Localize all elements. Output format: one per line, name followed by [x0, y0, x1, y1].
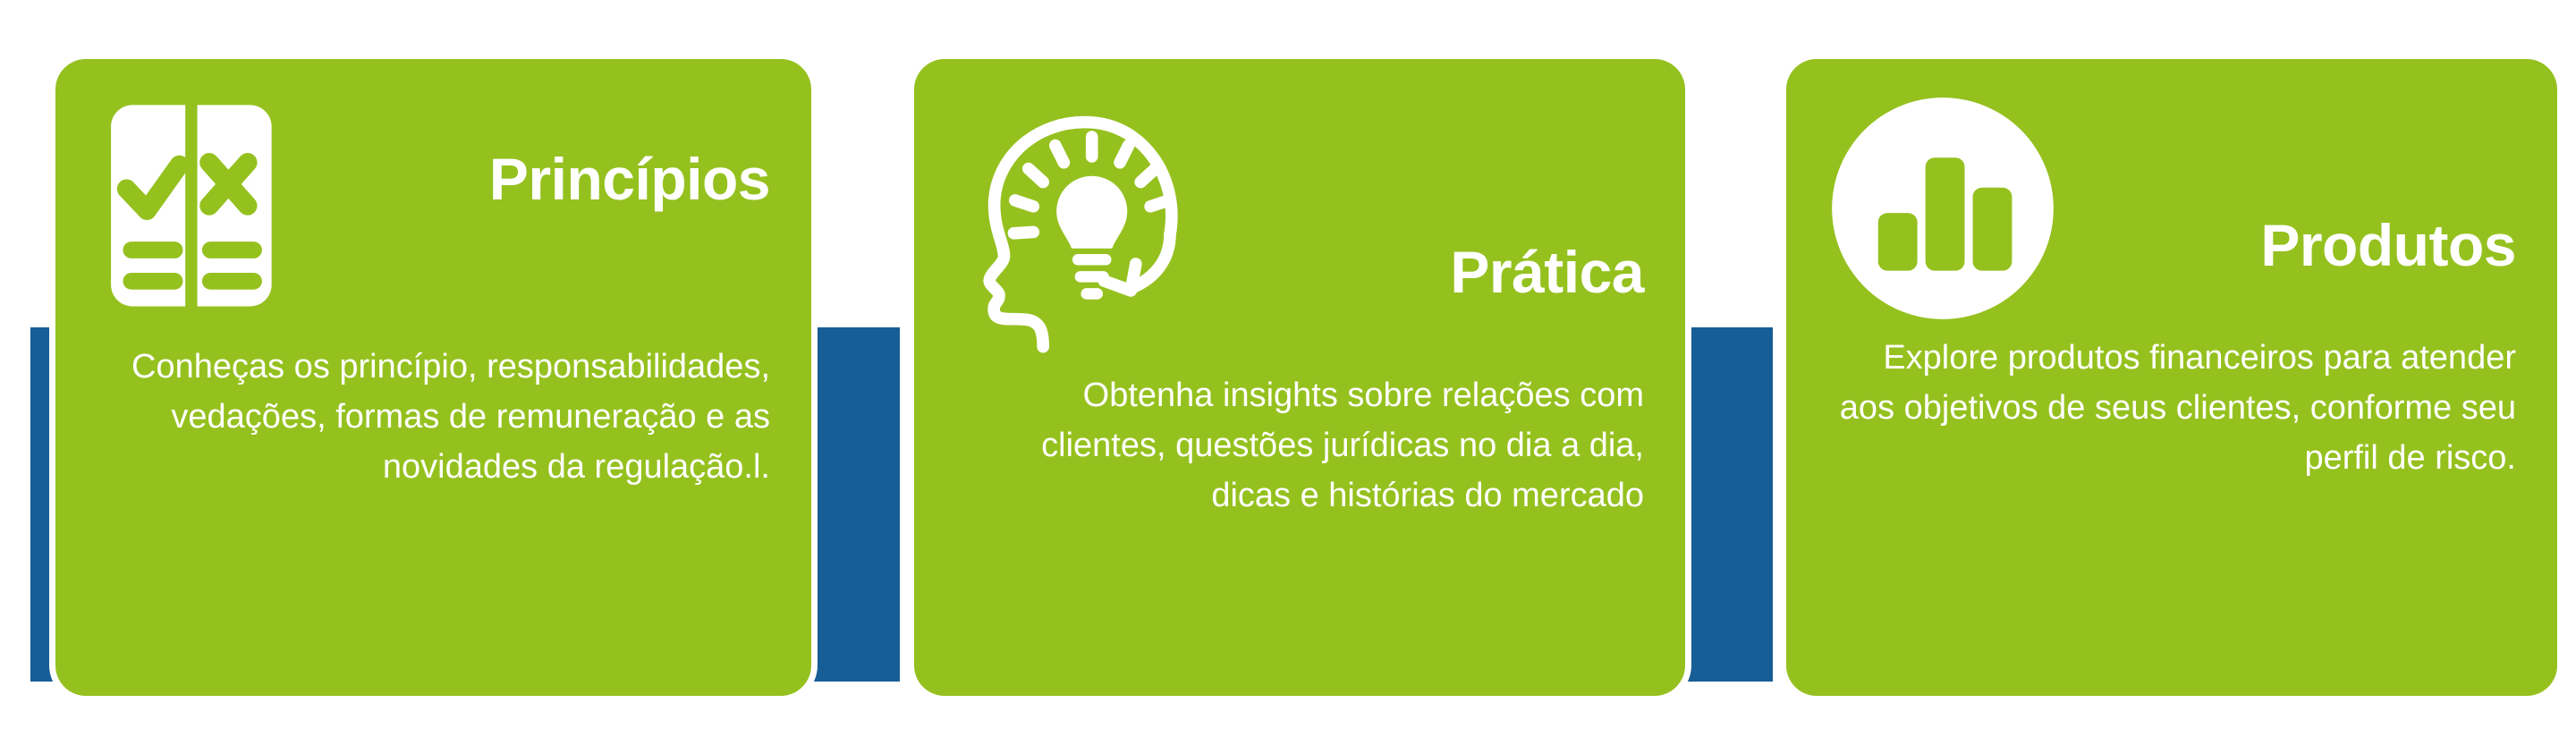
- card-principios-header: Princípios: [97, 93, 770, 337]
- checklist-approve-reject-icon: [97, 93, 336, 337]
- card-principios[interactable]: Princípios Conheças os princípio, respon…: [55, 59, 811, 696]
- blue-accent-bar-middle-left: [814, 327, 900, 682]
- card-produtos-description: Explore produtos financeiros para atende…: [1827, 334, 2516, 484]
- card-produtos-header: Produtos: [1827, 93, 2516, 328]
- head-lightbulb-idea-icon: [955, 93, 1224, 366]
- bar-chart-circle-icon: [1827, 93, 2058, 328]
- blue-accent-bar-middle-right: [1687, 327, 1773, 682]
- card-principios-description: Conheças os princípio, responsabilidades…: [97, 343, 770, 493]
- card-produtos[interactable]: Produtos Explore produtos financeiros pa…: [1786, 59, 2557, 696]
- card-produtos-title: Produtos: [2260, 145, 2516, 276]
- card-pratica[interactable]: Prática Obtenha insights sobre relações …: [914, 59, 1685, 696]
- card-pratica-title: Prática: [1450, 156, 1644, 303]
- card-pratica-description: Obtenha insights sobre relações com clie…: [955, 371, 1644, 521]
- card-pratica-header: Prática: [955, 93, 1644, 366]
- infographic-canvas: Princípios Conheças os princípio, respon…: [0, 0, 2576, 737]
- card-principios-title: Princípios: [489, 93, 770, 210]
